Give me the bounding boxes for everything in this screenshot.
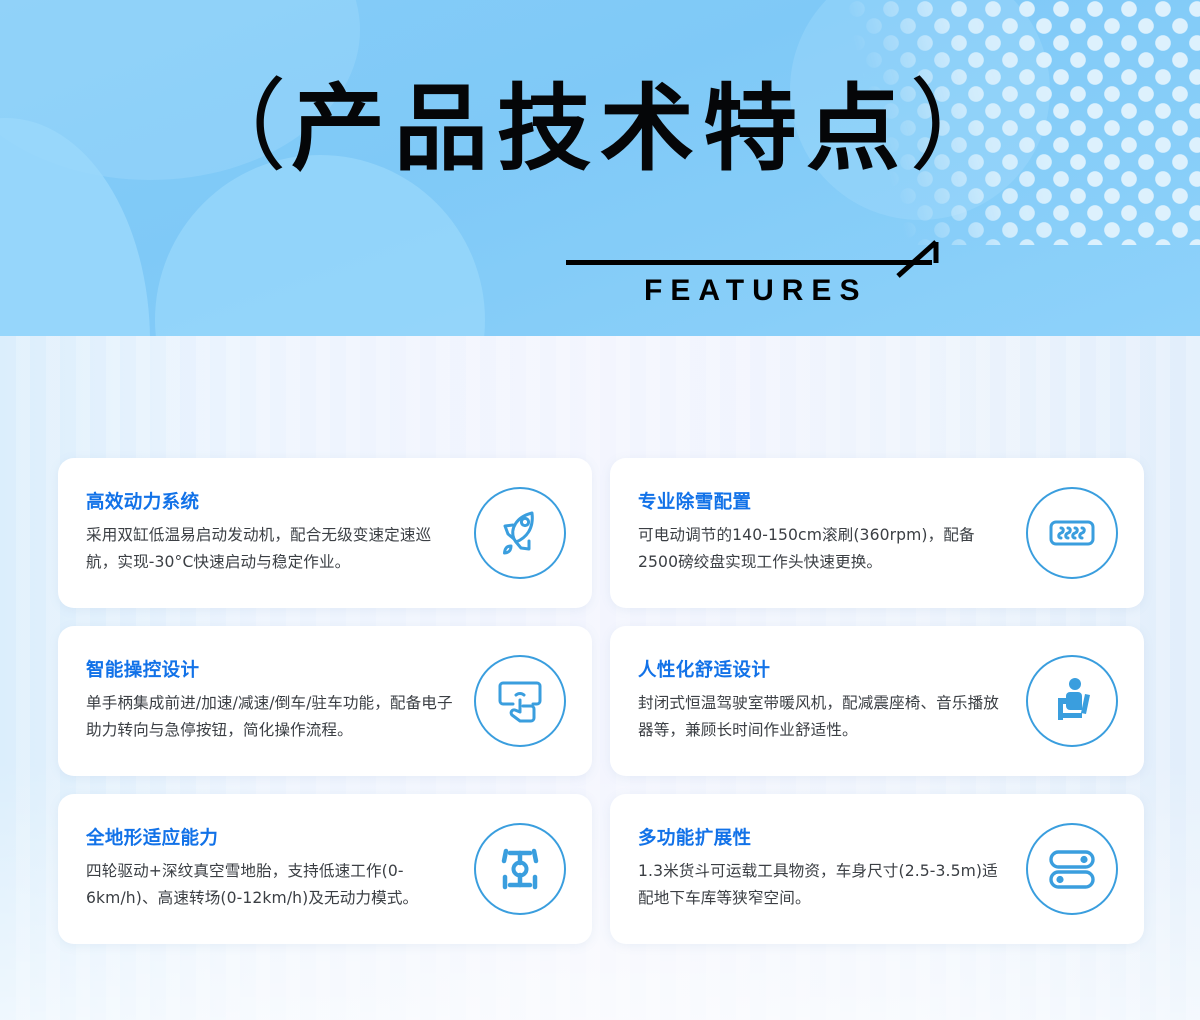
seated-person-icon bbox=[1044, 673, 1100, 729]
feature-card[interactable]: 智能操控设计 单手柄集成前进/加速/减速/倒车/驻车功能，配备电子助力转向与急停… bbox=[58, 626, 592, 776]
page-title: （产品技术特点） bbox=[0, 72, 1200, 185]
card-title: 人性化舒适设计 bbox=[638, 659, 1018, 683]
card-description: 单手柄集成前进/加速/减速/倒车/驻车功能，配备电子助力转向与急停按钮，简化操作… bbox=[86, 690, 456, 744]
card-description: 四轮驱动+深纹真空雪地胎，支持低速工作(0-6km/h)、高速转场(0-12km… bbox=[86, 858, 456, 912]
card-title: 高效动力系统 bbox=[86, 491, 466, 515]
feature-card[interactable]: 人性化舒适设计 封闭式恒温驾驶室带暖风机，配减震座椅、音乐播放器等，兼顾长时间作… bbox=[610, 626, 1144, 776]
card-description: 封闭式恒温驾驶室带暖风机，配减震座椅、音乐播放器等，兼顾长时间作业舒适性。 bbox=[638, 690, 1008, 744]
card-description: 采用双缸低温易启动发动机，配合无级变速定速巡航，实现-30°C快速启动与稳定作业… bbox=[86, 522, 456, 576]
feature-card[interactable]: 全地形适应能力 四轮驱动+深纹真空雪地胎，支持低速工作(0-6km/h)、高速转… bbox=[58, 794, 592, 944]
features-subtitle-group: FEATURES bbox=[566, 248, 956, 318]
card-icon-circle bbox=[474, 487, 566, 579]
feature-card-grid: 高效动力系统 采用双缸低温易启动发动机，配合无级变速定速巡航，实现-30°C快速… bbox=[58, 458, 1144, 944]
subtitle-features: FEATURES bbox=[644, 274, 867, 308]
card-text-block: 人性化舒适设计 封闭式恒温驾驶室带暖风机，配减震座椅、音乐播放器等，兼顾长时间作… bbox=[638, 659, 1018, 744]
arrow-right-line-icon bbox=[884, 232, 946, 294]
card-title: 全地形适应能力 bbox=[86, 827, 466, 851]
title-close-paren: ） bbox=[909, 68, 1013, 185]
card-text-block: 高效动力系统 采用双缸低温易启动发动机，配合无级变速定速巡航，实现-30°C快速… bbox=[86, 491, 466, 576]
touch-screen-icon bbox=[492, 673, 548, 729]
card-text-block: 专业除雪配置 可电动调节的140-150cm滚刷(360rpm)，配备2500磅… bbox=[638, 491, 1018, 576]
title-text: 产品技术特点 bbox=[291, 75, 909, 184]
stacked-sliders-icon bbox=[1044, 841, 1100, 897]
title-open-paren: （ bbox=[187, 68, 291, 185]
feature-card[interactable]: 多功能扩展性 1.3米货斗可运载工具物资，车身尺寸(2.5-3.5m)适配地下车… bbox=[610, 794, 1144, 944]
four-wheel-chassis-icon bbox=[492, 841, 548, 897]
card-description: 可电动调节的140-150cm滚刷(360rpm)，配备2500磅绞盘实现工作头… bbox=[638, 522, 1008, 576]
card-text-block: 全地形适应能力 四轮驱动+深纹真空雪地胎，支持低速工作(0-6km/h)、高速转… bbox=[86, 827, 466, 912]
rocket-icon bbox=[492, 505, 548, 561]
feature-card[interactable]: 高效动力系统 采用双缸低温易启动发动机，配合无级变速定速巡航，实现-30°C快速… bbox=[58, 458, 592, 608]
divider-line bbox=[566, 260, 932, 265]
card-text-block: 多功能扩展性 1.3米货斗可运载工具物资，车身尺寸(2.5-3.5m)适配地下车… bbox=[638, 827, 1018, 912]
feature-page: （产品技术特点） FEATURES 高效动力系统 采用双缸低温易启动发动机，配合… bbox=[0, 0, 1200, 1020]
card-text-block: 智能操控设计 单手柄集成前进/加速/减速/倒车/驻车功能，配备电子助力转向与急停… bbox=[86, 659, 466, 744]
card-description: 1.3米货斗可运载工具物资，车身尺寸(2.5-3.5m)适配地下车库等狭窄空间。 bbox=[638, 858, 1008, 912]
card-icon-circle bbox=[474, 823, 566, 915]
page-header: （产品技术特点） FEATURES bbox=[0, 0, 1200, 336]
card-title: 智能操控设计 bbox=[86, 659, 466, 683]
card-icon-circle bbox=[1026, 487, 1118, 579]
card-icon-circle bbox=[474, 655, 566, 747]
feature-card[interactable]: 专业除雪配置 可电动调节的140-150cm滚刷(360rpm)，配备2500磅… bbox=[610, 458, 1144, 608]
card-icon-circle bbox=[1026, 655, 1118, 747]
card-title: 多功能扩展性 bbox=[638, 827, 1018, 851]
card-title: 专业除雪配置 bbox=[638, 491, 1018, 515]
card-icon-circle bbox=[1026, 823, 1118, 915]
snow-brush-icon bbox=[1044, 505, 1100, 561]
